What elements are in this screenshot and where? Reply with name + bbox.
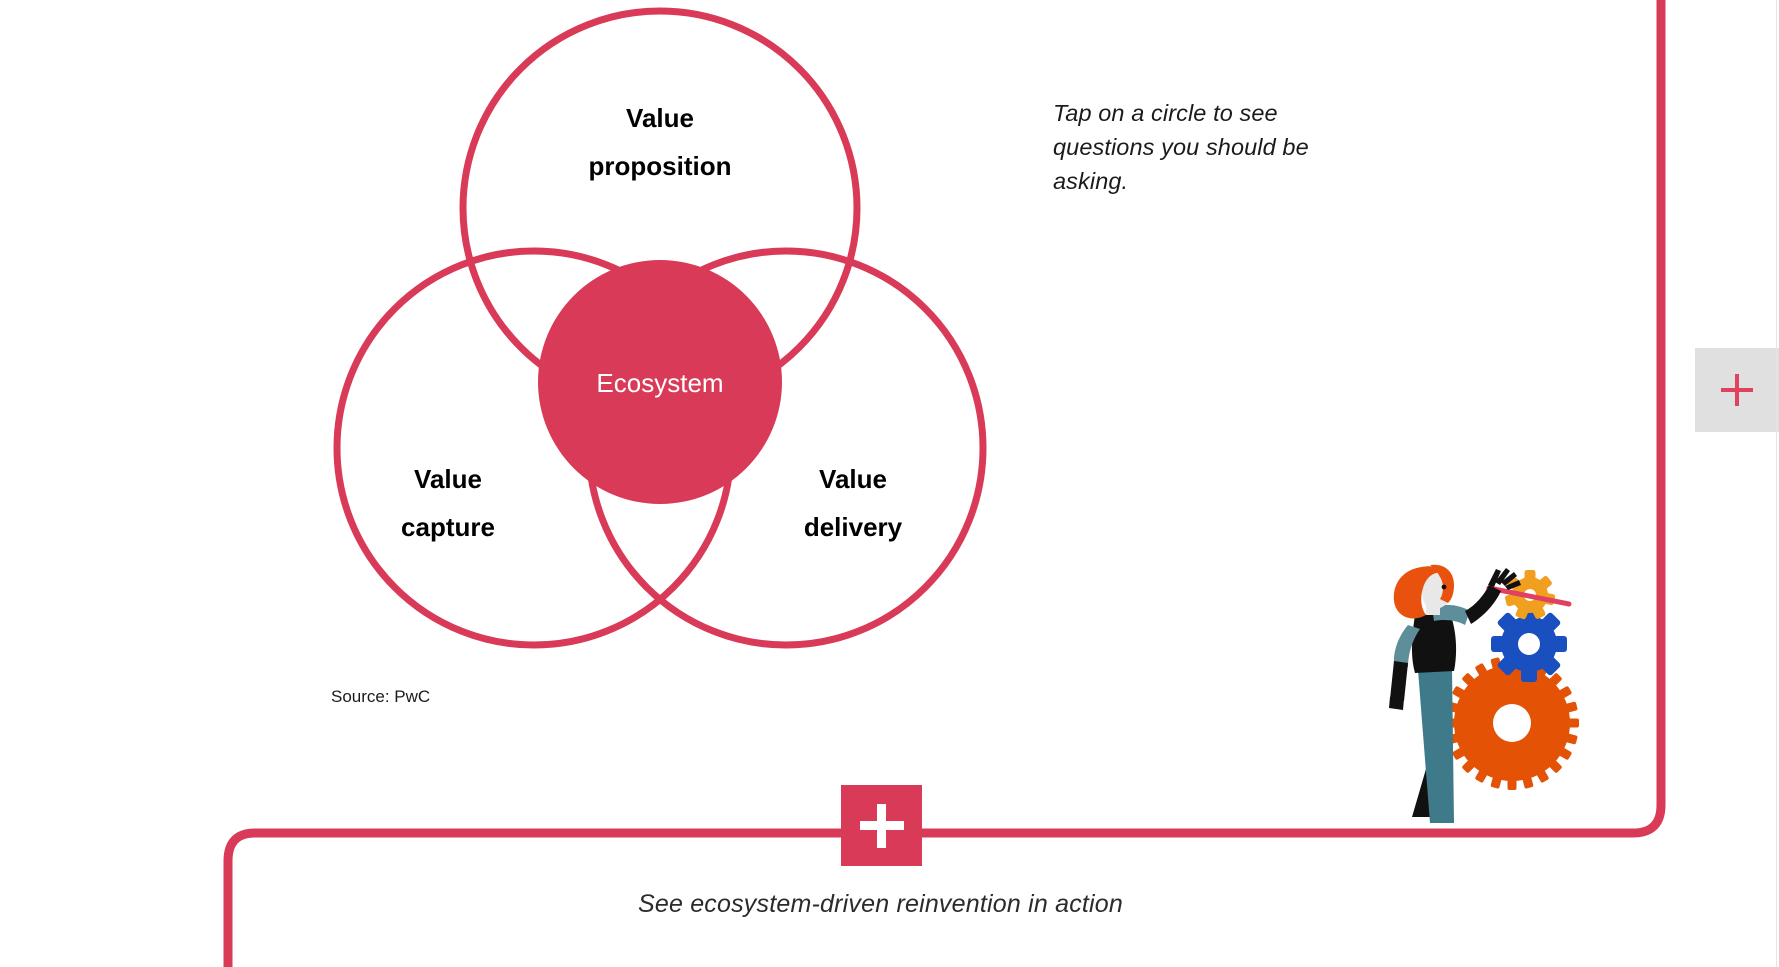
illustration-woman-with-gears xyxy=(1370,555,1620,835)
source-note: Source: PwC xyxy=(331,687,430,707)
plus-icon-vertical xyxy=(877,804,886,848)
side-plus-icon-vertical xyxy=(1735,374,1739,406)
bottom-caption-text: See ecosystem-driven reinvention in acti… xyxy=(638,890,1123,919)
label-value-proposition-line1: Value xyxy=(626,103,694,133)
right-edge-rule xyxy=(1776,0,1777,967)
bottom-caption: See ecosystem-driven reinvention in acti… xyxy=(0,890,1779,919)
label-ecosystem: Ecosystem xyxy=(596,368,723,398)
venn-diagram: Value proposition Value capture Value de… xyxy=(0,0,1040,680)
gear-medium-icon xyxy=(1491,606,1567,682)
gear-large-icon xyxy=(1445,656,1579,790)
label-value-capture-line2: capture xyxy=(401,512,495,542)
label-value-capture-line1: Value xyxy=(414,464,482,494)
label-value-delivery-line1: Value xyxy=(819,464,887,494)
slide-canvas: Value proposition Value capture Value de… xyxy=(0,0,1779,967)
label-value-delivery-line2: delivery xyxy=(804,512,903,542)
instruction-text: Tap on a circle to see questions you sho… xyxy=(1053,96,1353,198)
side-expand-tab[interactable] xyxy=(1695,348,1779,432)
label-value-proposition-line2: proposition xyxy=(589,151,732,181)
expand-plus-button[interactable] xyxy=(841,785,922,866)
